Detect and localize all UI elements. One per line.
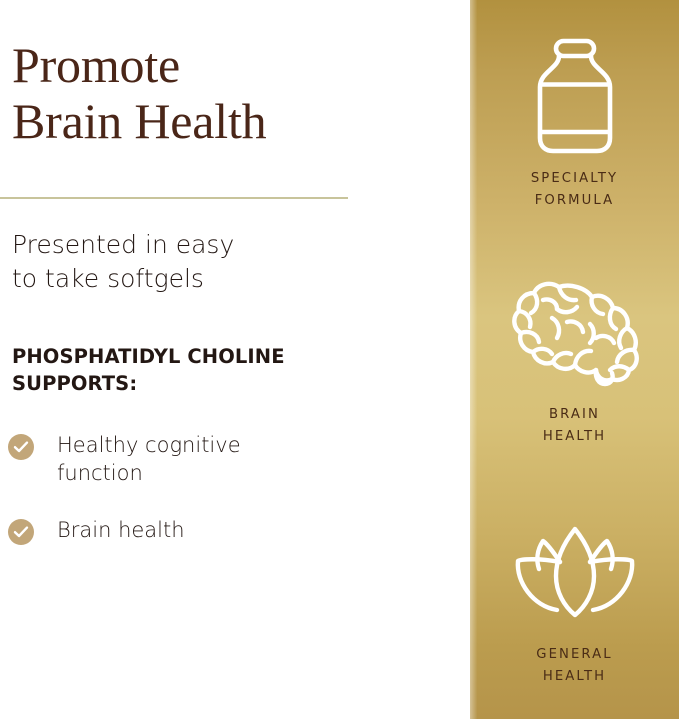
feature-label: GENERAL HEALTH	[470, 644, 679, 688]
supports-heading: PHOSPHATIDYL CHOLINE SUPPORTS:	[12, 344, 442, 398]
list-item: Healthy cognitive function	[8, 432, 438, 487]
supplement-bottle-icon	[470, 36, 679, 156]
page-title-line-2: Brain Health	[12, 94, 432, 150]
feature-label-line-1: SPECIALTY	[470, 168, 679, 190]
supports-heading-line-1: PHOSPHATIDYL CHOLINE	[12, 344, 442, 371]
feature-specialty-formula: SPECIALTY FORMULA	[470, 36, 679, 212]
check-icon	[8, 434, 34, 460]
page-title-line-1: Promote	[12, 38, 432, 94]
lotus-flower-icon	[470, 512, 679, 632]
subheading-line-2: to take softgels	[12, 262, 412, 296]
feature-label-line-2: HEALTH	[470, 666, 679, 688]
subheading-line-1: Presented in easy	[12, 228, 412, 262]
benefit-label: Healthy cognitive function	[57, 432, 307, 487]
check-icon	[8, 519, 34, 545]
subheading: Presented in easy to take softgels	[12, 228, 412, 297]
brain-icon	[470, 272, 679, 392]
product-benefits-poster: Promote Brain Health Presented in easy t…	[0, 0, 679, 719]
list-item: Brain health	[8, 517, 438, 545]
feature-label-line-2: FORMULA	[470, 190, 679, 212]
left-content-column: Promote Brain Health Presented in easy t…	[0, 0, 470, 719]
feature-label-line-1: GENERAL	[470, 644, 679, 666]
feature-general-health: GENERAL HEALTH	[470, 512, 679, 688]
benefit-label: Brain health	[57, 517, 185, 545]
supports-heading-line-2: SUPPORTS:	[12, 371, 442, 398]
page-title: Promote Brain Health	[12, 38, 432, 149]
feature-label-line-2: HEALTH	[470, 426, 679, 448]
feature-label: BRAIN HEALTH	[470, 404, 679, 448]
title-divider	[0, 197, 348, 199]
feature-label-line-1: BRAIN	[470, 404, 679, 426]
benefits-list: Healthy cognitive function Brain health	[8, 432, 438, 545]
features-gold-panel: SPECIALTY FORMULA	[470, 0, 679, 719]
feature-label: SPECIALTY FORMULA	[470, 168, 679, 212]
feature-brain-health: BRAIN HEALTH	[470, 272, 679, 448]
